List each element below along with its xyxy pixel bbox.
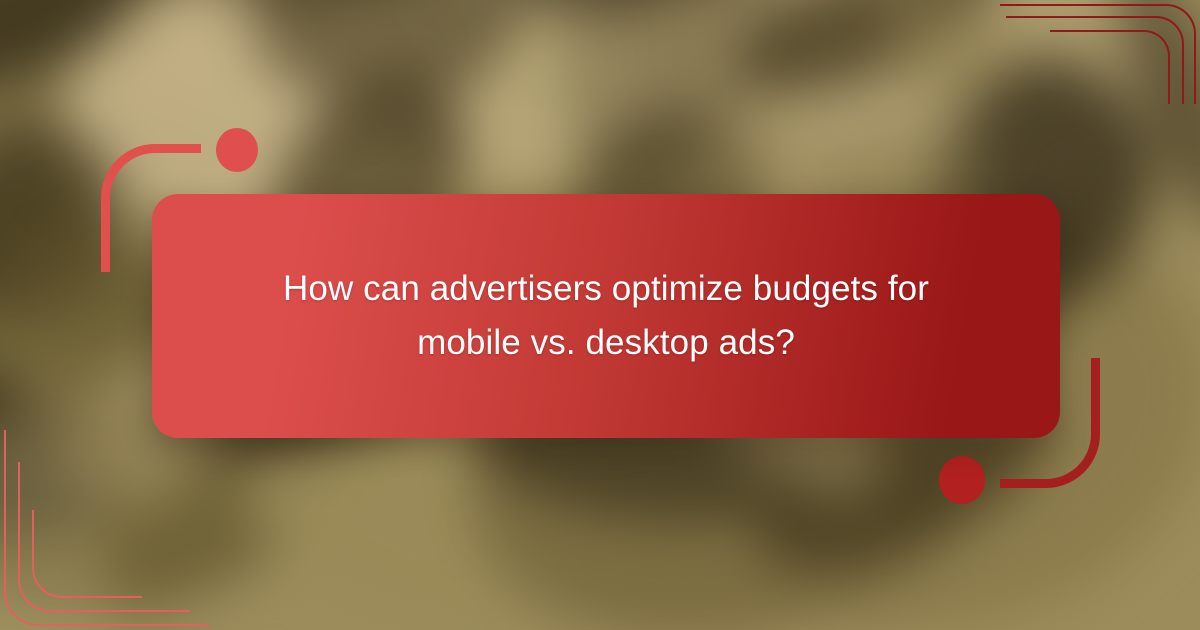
dot-bottom-right bbox=[939, 456, 985, 504]
dot-top-left bbox=[216, 128, 258, 172]
question-card-stage: How can advertisers optimize budgets for… bbox=[0, 0, 1200, 630]
question-card: How can advertisers optimize budgets for… bbox=[152, 194, 1060, 438]
question-text: How can advertisers optimize budgets for… bbox=[246, 262, 966, 371]
